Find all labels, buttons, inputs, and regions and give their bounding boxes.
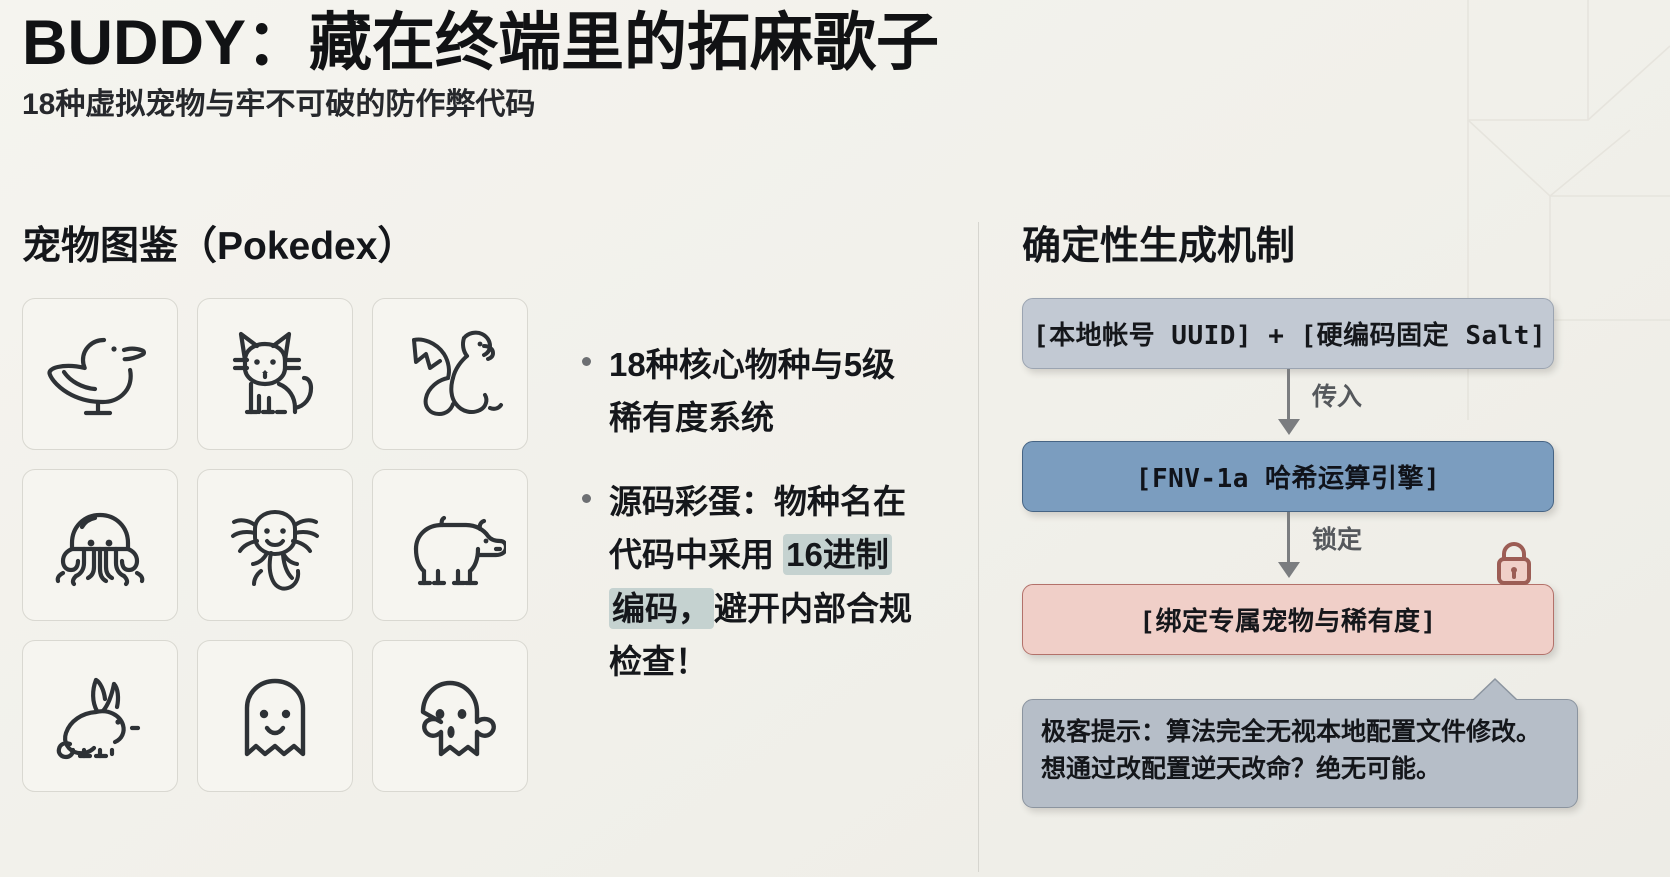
arrow-head-icon (1278, 419, 1300, 435)
lock-icon (1491, 539, 1537, 587)
flow-arrow-2: 锁定 (1022, 512, 1554, 584)
flow-arrow-2-label: 锁定 (1312, 520, 1362, 556)
flow-node-uuid[interactable]: [本地帐号 UUID] + [硬编码固定 Salt] (1022, 298, 1554, 369)
axolotl-icon (219, 493, 331, 597)
dragon-icon (394, 324, 506, 424)
flow-node-hash[interactable]: [FNV-1a 哈希运算引擎] (1022, 441, 1554, 512)
slide-header: BUDDY：藏在终端里的拓麻歌子 18种虚拟宠物与牢不可破的防作弊代码 (22, 8, 1222, 123)
pet-cell-ghost[interactable] (197, 640, 353, 792)
flowchart: [本地帐号 UUID] + [硬编码固定 Salt] 传入 [FNV-1a 哈希… (1022, 298, 1642, 808)
tooltip-line-2: 想通过改配置逆天改命？绝无可能。 (1041, 751, 1559, 789)
octopus-icon (48, 493, 152, 597)
pet-cell-axolotl[interactable] (197, 469, 353, 621)
ghost-icon (225, 664, 325, 768)
page-title: BUDDY：藏在终端里的拓麻歌子 (22, 8, 1222, 79)
duck-icon (44, 324, 156, 424)
rabbit-icon (44, 668, 156, 764)
arrow-line (1287, 512, 1290, 568)
pokedex-bullet-list: 18种核心物种与5级稀有度系统 源码彩蛋：物种名在代码中采用 16进制编码，避开… (582, 338, 912, 719)
flow-arrow-1-label: 传入 (1312, 377, 1362, 413)
generation-mechanism-panel: 确定性生成机制 [本地帐号 UUID] + [硬编码固定 Salt] 传入 [F… (1022, 225, 1642, 808)
column-divider (978, 222, 979, 872)
arrow-head-icon (1278, 562, 1300, 578)
pet-cell-octopus[interactable] (22, 469, 178, 621)
list-item: 源码彩蛋：物种名在代码中采用 16进制编码，避开内部合规检查！ (582, 475, 912, 689)
tooltip-line-1: 极客提示：算法完全无视本地配置文件修改。 (1041, 714, 1559, 752)
pet-cell-ghost-surprised[interactable] (372, 640, 528, 792)
pet-cell-dragon[interactable] (372, 298, 528, 450)
list-item: 18种核心物种与5级稀有度系统 (582, 338, 912, 445)
pokedex-panel: 宠物图鉴（Pokedex） (22, 225, 952, 792)
pokedex-section-title: 宠物图鉴（Pokedex） (22, 225, 952, 270)
pet-cell-duck[interactable] (22, 298, 178, 450)
cat-icon (221, 322, 329, 426)
capybara-icon (394, 497, 506, 593)
generation-section-title: 确定性生成机制 (1022, 225, 1642, 270)
flow-node-bind-label: [绑定专属宠物与稀有度] (1139, 607, 1436, 637)
pet-cell-cat[interactable] (197, 298, 353, 450)
ghost-surprised-icon (395, 664, 505, 768)
pet-grid (22, 298, 528, 792)
pet-cell-rabbit[interactable] (22, 640, 178, 792)
page-subtitle: 18种虚拟宠物与牢不可破的防作弊代码 (22, 87, 1222, 123)
bullet-text: 源码彩蛋：物种名在代码中采用 16进制编码，避开内部合规检查！ (609, 475, 912, 689)
flow-arrow-1: 传入 (1022, 369, 1554, 441)
pet-cell-capybara[interactable] (372, 469, 528, 621)
geek-tip-tooltip: 极客提示：算法完全无视本地配置文件修改。 想通过改配置逆天改命？绝无可能。 (1022, 699, 1578, 808)
bullet-dot-icon (582, 494, 591, 503)
tooltip-pointer-icon (1473, 680, 1517, 701)
flow-node-bind[interactable]: [绑定专属宠物与稀有度] (1022, 584, 1554, 655)
slide-root: BUDDY：藏在终端里的拓麻歌子 18种虚拟宠物与牢不可破的防作弊代码 宠物图鉴… (0, 0, 1670, 877)
bullet-text: 18种核心物种与5级稀有度系统 (609, 338, 912, 445)
bullet-dot-icon (582, 357, 591, 366)
arrow-line (1287, 369, 1290, 425)
